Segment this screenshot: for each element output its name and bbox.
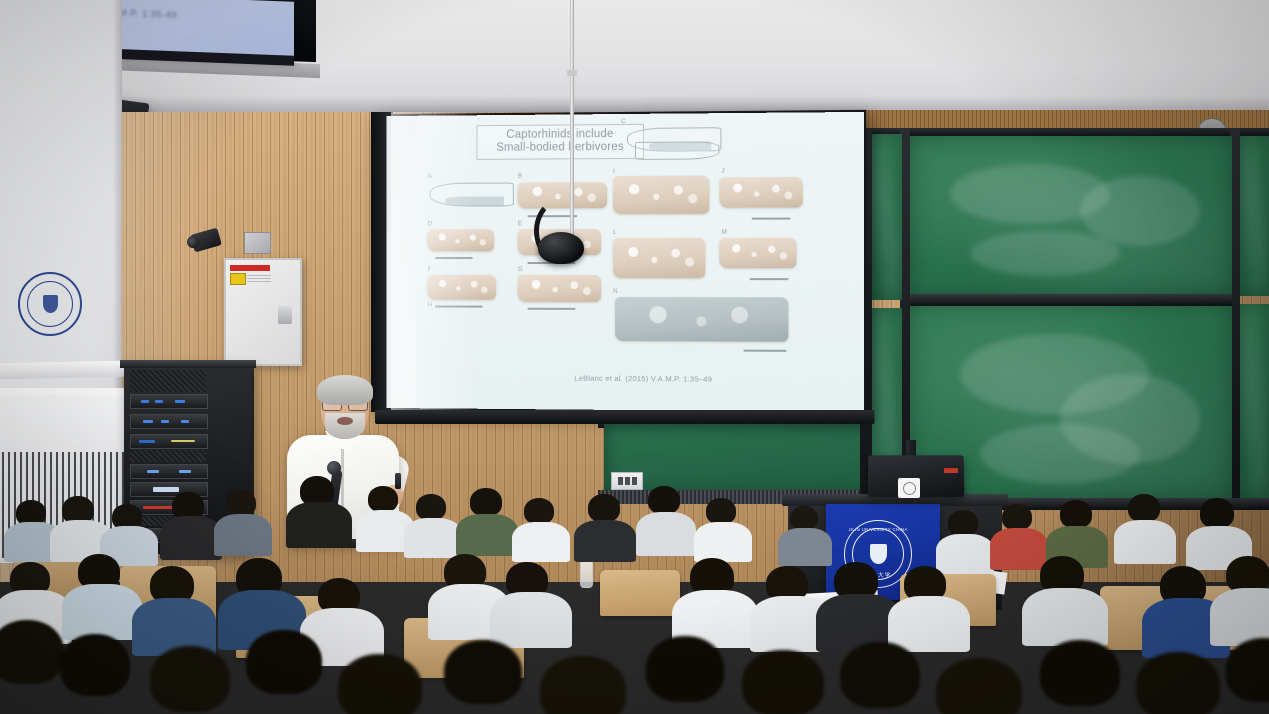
slide-panel-label-J: J	[721, 167, 724, 174]
slide-panel-label-C: C	[621, 118, 626, 125]
slide-skull-jaw-A	[445, 196, 504, 205]
cabinet-label-text	[247, 274, 271, 282]
slide-title-line1: Captorhinids include	[483, 128, 637, 142]
wall-university-seal-icon	[18, 272, 82, 336]
audience	[0, 470, 1269, 714]
slide-panel-label-F: F	[427, 266, 431, 273]
lecture-hall-photo: LeBlanc et al. (2015) V.A.M.P. 1:35-49	[0, 0, 1269, 714]
presenter-mouth	[337, 417, 353, 425]
slide-skull-mandible-top	[635, 141, 719, 160]
chalkboard-middle-rail	[910, 294, 1232, 306]
rack-mesh-1	[130, 370, 206, 392]
wall-seal-shield-icon	[43, 295, 58, 313]
slide-fossil-G	[518, 275, 601, 302]
projection-screen: Captorhinids include Small-bodied herbiv…	[371, 112, 863, 422]
av-rack-top	[120, 360, 256, 368]
slide-scalebar-N	[744, 350, 787, 352]
slide-scalebar-M	[750, 278, 789, 280]
presentation-slide: Captorhinids include Small-bodied herbiv…	[416, 114, 864, 412]
slide-scalebar-J	[752, 218, 791, 220]
cabinet-warning-label-red	[230, 265, 270, 271]
slide-fossil-J	[719, 177, 802, 208]
slide-scalebar-G	[528, 308, 576, 310]
wall-access-plate	[244, 232, 271, 254]
slide-fossil-M	[719, 238, 796, 268]
slide-fossil-L	[613, 238, 705, 278]
chalkboard-assembly	[860, 128, 1269, 510]
slide-panel-label-G: G	[518, 266, 523, 273]
rack-unit-2[interactable]	[130, 414, 208, 429]
chalkboard-panel-main-top[interactable]	[910, 136, 1232, 296]
slide-panel-label-L: L	[613, 229, 617, 236]
projection-screen-bottom-bar	[375, 410, 874, 424]
cabinet-hazard-icon	[230, 273, 246, 285]
wall-seal-inner-ring	[27, 281, 73, 327]
slide-fossil-F	[427, 275, 496, 300]
slide-panel-label-B: B	[518, 173, 522, 180]
slide-panel-label-M: M	[721, 229, 726, 236]
cabinet-handle[interactable]	[278, 306, 292, 324]
rack-unit-1[interactable]	[130, 394, 208, 409]
slide-panel-label-E: E	[518, 220, 522, 227]
rack-unit-3[interactable]	[130, 434, 208, 449]
ceiling-hanging-microphone	[538, 232, 584, 264]
chalkboard-frame-top	[860, 128, 1269, 136]
chalkboard-panel-right-top[interactable]	[1240, 136, 1269, 296]
slide-fossil-N	[615, 297, 788, 342]
slide-scalebar-D	[435, 257, 472, 259]
ceiling-mic-pole-joint	[567, 70, 577, 76]
slide-scalebar-F	[435, 306, 482, 308]
slide-panel-label-I: I	[613, 168, 615, 175]
slide-fossil-I	[613, 176, 709, 214]
chalkboard-panel-left-top[interactable]	[872, 134, 902, 300]
slide-citation: LeBlanc et al. (2015) V.A.M.P. 1:35–49	[416, 373, 864, 385]
rack-mesh-2	[130, 450, 206, 462]
slide-title-line2: Small-bodied herbivores	[483, 141, 637, 155]
electrical-cabinet[interactable]	[224, 258, 302, 366]
radiator-cap	[0, 361, 126, 380]
slide-panel-label-A: A	[427, 173, 431, 180]
slide-panel-label-N: N	[613, 288, 618, 295]
presenter-hair	[317, 375, 373, 405]
slide-fossil-D	[427, 229, 494, 251]
slide-panel-label-H: H	[427, 302, 432, 309]
projection-screen-surface: Captorhinids include Small-bodied herbiv…	[387, 112, 864, 412]
slide-title-box: Captorhinids include Small-bodied herbiv…	[476, 124, 644, 160]
slide-panel-label-D: D	[427, 220, 432, 227]
